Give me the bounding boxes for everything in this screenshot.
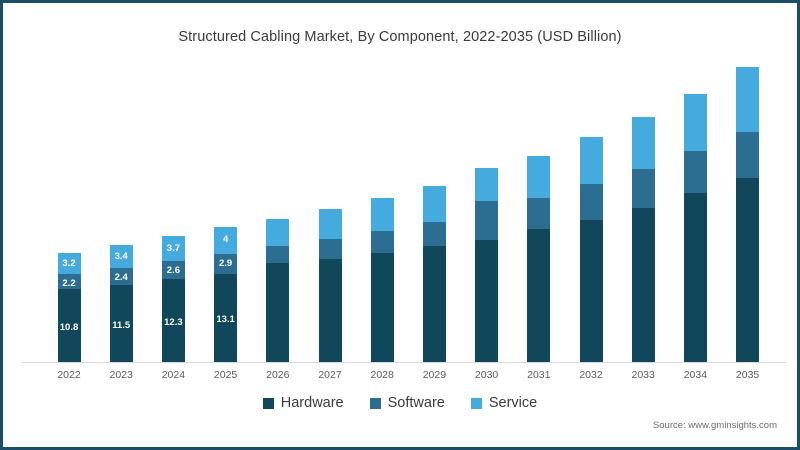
bar-segment-hardware[interactable] xyxy=(684,193,707,363)
legend-item-hardware[interactable]: Hardware xyxy=(263,395,344,411)
bar-segment-software[interactable] xyxy=(371,231,394,253)
bar-segment-software[interactable] xyxy=(266,246,289,263)
x-axis-tick-2024: 2024 xyxy=(150,369,196,381)
bar-segment-service[interactable] xyxy=(684,94,707,151)
bar-group[interactable] xyxy=(736,63,759,363)
bar-segment-service[interactable]: 3.7 xyxy=(162,236,185,261)
bar-stack xyxy=(527,156,550,363)
legend-swatch-icon xyxy=(370,398,381,409)
bar-group[interactable] xyxy=(632,63,655,363)
x-axis-tick-2022: 2022 xyxy=(46,369,92,381)
x-axis-tick-2032: 2032 xyxy=(568,369,614,381)
bar-segment-software[interactable] xyxy=(527,198,550,229)
bar-segment-hardware[interactable] xyxy=(371,253,394,363)
bar-value-label: 3.2 xyxy=(58,259,81,269)
bar-stack xyxy=(580,137,603,363)
bar-stack xyxy=(684,94,707,363)
bar-group[interactable]: 11.52.43.4 xyxy=(110,63,133,363)
bar-segment-hardware[interactable] xyxy=(475,240,498,363)
legend-label: Hardware xyxy=(281,395,344,411)
legend-label: Service xyxy=(489,395,537,411)
bar-segment-service[interactable] xyxy=(475,168,498,201)
bar-segment-hardware[interactable] xyxy=(319,259,342,363)
chart-legend: HardwareSoftwareService xyxy=(3,395,797,411)
x-axis-tick-2027: 2027 xyxy=(307,369,353,381)
bar-group[interactable] xyxy=(527,63,550,363)
bar-value-label: 12.3 xyxy=(162,318,185,328)
bar-segment-service[interactable]: 3.2 xyxy=(58,253,81,275)
bar-segment-hardware[interactable] xyxy=(527,229,550,363)
x-axis-tick-2028: 2028 xyxy=(359,369,405,381)
bar-segment-service[interactable] xyxy=(632,117,655,169)
bar-segment-hardware[interactable]: 12.3 xyxy=(162,279,185,363)
bar-stack xyxy=(475,168,498,363)
bar-segment-software[interactable] xyxy=(423,222,446,247)
legend-item-software[interactable]: Software xyxy=(370,395,445,411)
bar-stack xyxy=(371,198,394,363)
bar-segment-software[interactable]: 2.4 xyxy=(110,268,133,284)
legend-swatch-icon xyxy=(263,398,274,409)
legend-item-service[interactable]: Service xyxy=(471,395,537,411)
source-note: Source: www.gminsights.com xyxy=(653,420,777,431)
x-axis-tick-2023: 2023 xyxy=(98,369,144,381)
bar-segment-software[interactable] xyxy=(580,184,603,219)
bar-segment-hardware[interactable] xyxy=(632,208,655,363)
legend-label: Software xyxy=(388,395,445,411)
bar-value-label: 2.2 xyxy=(58,279,81,289)
chart-card: Structured Cabling Market, By Component,… xyxy=(0,0,800,450)
x-axis-tick-2031: 2031 xyxy=(516,369,562,381)
bar-segment-hardware[interactable] xyxy=(266,263,289,363)
bar-stack: 11.52.43.4 xyxy=(110,245,133,363)
bar-segment-service[interactable]: 3.4 xyxy=(110,245,133,268)
bar-group[interactable] xyxy=(266,63,289,363)
bar-stack xyxy=(632,117,655,363)
bar-value-label: 13.1 xyxy=(214,315,237,325)
bar-segment-service[interactable] xyxy=(423,186,446,221)
bar-value-label: 10.8 xyxy=(58,323,81,333)
bar-group[interactable]: 12.32.63.7 xyxy=(162,63,185,363)
bar-stack xyxy=(319,209,342,363)
bar-segment-hardware[interactable] xyxy=(736,178,759,363)
bar-stack: 10.82.23.2 xyxy=(58,253,81,363)
bar-segment-hardware[interactable]: 11.5 xyxy=(110,285,133,363)
bar-segment-service[interactable] xyxy=(371,198,394,231)
bar-segment-software[interactable] xyxy=(736,132,759,178)
x-axis-tick-2025: 2025 xyxy=(203,369,249,381)
bar-group[interactable] xyxy=(371,63,394,363)
bar-group[interactable] xyxy=(475,63,498,363)
bar-segment-software[interactable] xyxy=(319,239,342,259)
bar-group[interactable] xyxy=(319,63,342,363)
x-axis-tick-2034: 2034 xyxy=(672,369,718,381)
legend-swatch-icon xyxy=(471,398,482,409)
bar-stack xyxy=(736,67,759,363)
bar-segment-software[interactable] xyxy=(475,201,498,239)
bar-segment-hardware[interactable] xyxy=(423,246,446,363)
bar-stack: 12.32.63.7 xyxy=(162,236,185,363)
bar-stack: 13.12.94 xyxy=(214,227,237,363)
x-axis-tick-2030: 2030 xyxy=(464,369,510,381)
bar-segment-service[interactable] xyxy=(319,209,342,239)
bar-segment-service[interactable] xyxy=(580,137,603,184)
bar-value-label: 4 xyxy=(214,235,237,245)
bar-stack xyxy=(266,219,289,363)
bar-group[interactable]: 13.12.94 xyxy=(214,63,237,363)
bar-group[interactable] xyxy=(423,63,446,363)
bar-segment-hardware[interactable]: 13.1 xyxy=(214,274,237,363)
bar-segment-software[interactable] xyxy=(684,151,707,193)
x-axis-tick-2029: 2029 xyxy=(411,369,457,381)
bar-segment-software[interactable]: 2.6 xyxy=(162,261,185,279)
x-axis-line xyxy=(21,362,787,363)
bar-value-label: 11.5 xyxy=(110,321,133,331)
bar-value-label: 2.4 xyxy=(110,273,133,283)
bar-group[interactable]: 10.82.23.2 xyxy=(58,63,81,363)
bar-value-label: 3.7 xyxy=(162,244,185,254)
bar-value-label: 2.9 xyxy=(214,259,237,269)
bar-segment-software[interactable]: 2.2 xyxy=(58,274,81,289)
bar-segment-software[interactable]: 2.9 xyxy=(214,254,237,274)
bar-segment-service[interactable] xyxy=(736,67,759,132)
x-axis-tick-2033: 2033 xyxy=(620,369,666,381)
bar-segment-software[interactable] xyxy=(632,169,655,208)
plot-area: 10.82.23.211.52.43.412.32.63.713.12.94 xyxy=(21,63,785,363)
bar-segment-service[interactable] xyxy=(527,156,550,198)
bar-stack xyxy=(423,186,446,363)
bar-value-label: 3.4 xyxy=(110,252,133,262)
bar-segment-service[interactable]: 4 xyxy=(214,227,237,254)
bar-group[interactable] xyxy=(580,63,603,363)
x-axis-tick-2035: 2035 xyxy=(725,369,771,381)
bar-value-label: 2.6 xyxy=(162,266,185,276)
bar-segment-service[interactable] xyxy=(266,219,289,246)
chart-title: Structured Cabling Market, By Component,… xyxy=(3,29,797,45)
bar-group[interactable] xyxy=(684,63,707,363)
x-axis-tick-2026: 2026 xyxy=(255,369,301,381)
bar-segment-hardware[interactable]: 10.8 xyxy=(58,289,81,363)
bar-segment-hardware[interactable] xyxy=(580,220,603,363)
